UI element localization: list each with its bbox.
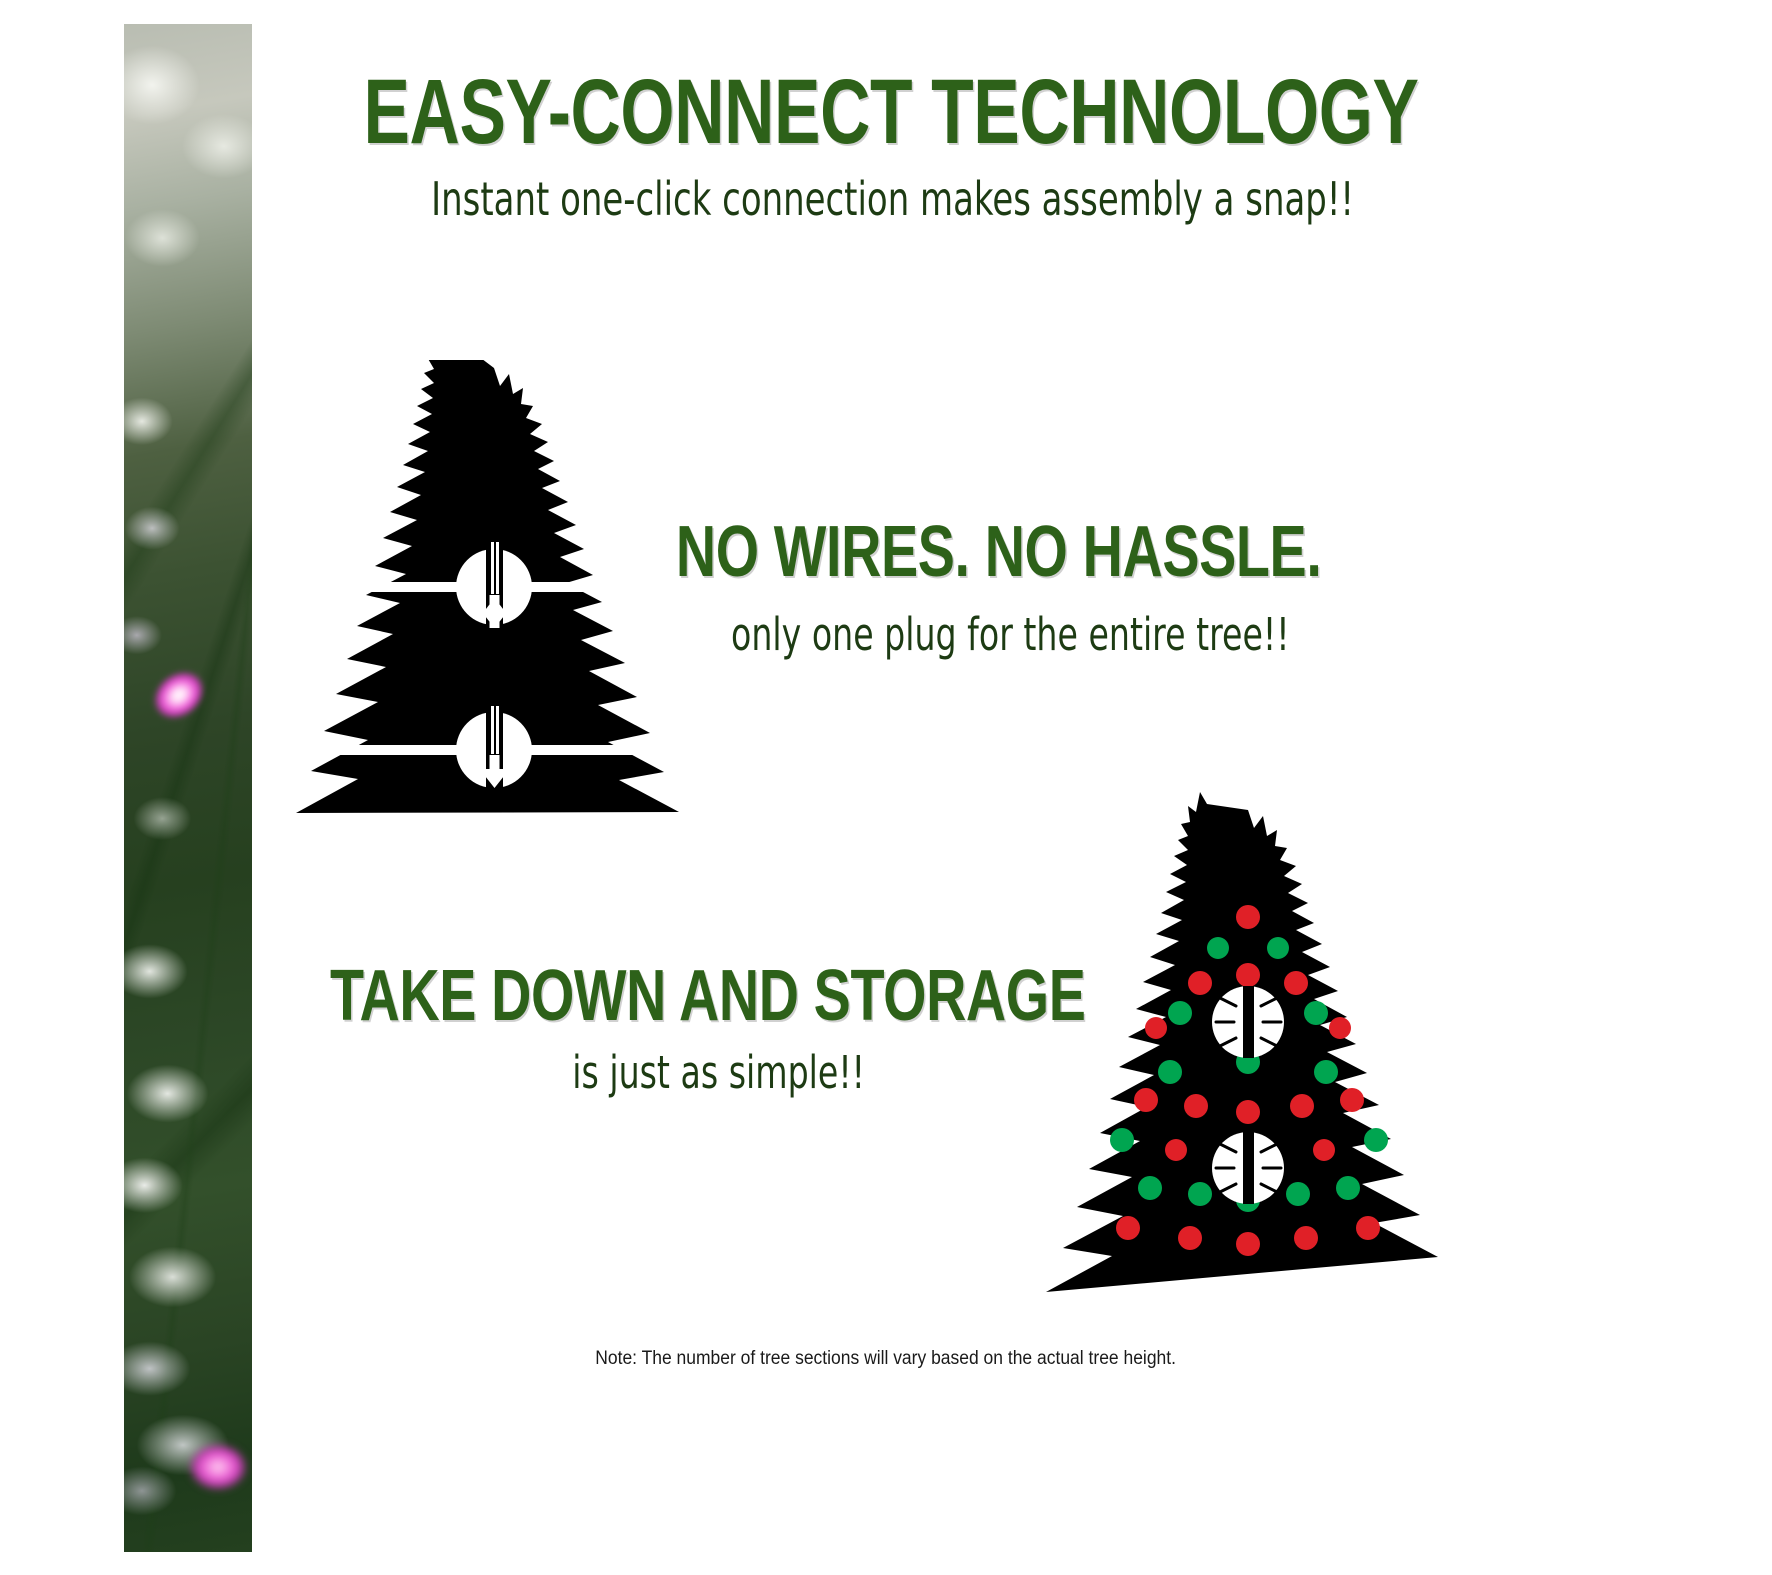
footnote: Note: The number of tree sections will v… [0, 1348, 1772, 1370]
take-down-subheading-text: is just as simple!! [572, 1050, 865, 1095]
easy-connect-heading-text: EASY-CONNECT TECHNOLOGY [363, 66, 1418, 158]
take-down-heading: TAKE DOWN AND STORAGE [288, 960, 1128, 1032]
footnote-text: Note: The number of tree sections will v… [596, 1348, 1177, 1370]
no-wires-subheading: only one plug for the entire tree!! [700, 612, 1321, 657]
poster-canvas: EASY-CONNECT TECHNOLOGY Instant one-clic… [0, 0, 1772, 1575]
take-down-heading-text: TAKE DOWN AND STORAGE [330, 960, 1086, 1032]
purple-light-bulb-lower-icon [175, 1430, 252, 1504]
decorated-tree-silhouette-with-separation-points [1040, 800, 1460, 1300]
no-wires-heading: NO WIRES. NO HASSLE. [640, 516, 1357, 588]
separation-point-upper [1212, 986, 1284, 1058]
no-wires-subheading-text: only one plug for the entire tree!! [731, 612, 1290, 657]
easy-connect-subheading-text: Instant one-click connection makes assem… [431, 176, 1354, 222]
take-down-subheading: is just as simple!! [556, 1050, 881, 1095]
snow-flocked-pine-with-purple-lights-photo [124, 24, 252, 1552]
page-title-easy-connect: EASY-CONNECT TECHNOLOGY [129, 66, 1653, 158]
sectional-tree-silhouette-with-connection-points [286, 360, 706, 820]
no-wires-heading-text: NO WIRES. NO HASSLE. [676, 516, 1322, 588]
photo-snow-layer [124, 24, 252, 1552]
separation-point-lower [1212, 1132, 1284, 1204]
easy-connect-subheading: Instant one-click connection makes assem… [166, 176, 1619, 222]
